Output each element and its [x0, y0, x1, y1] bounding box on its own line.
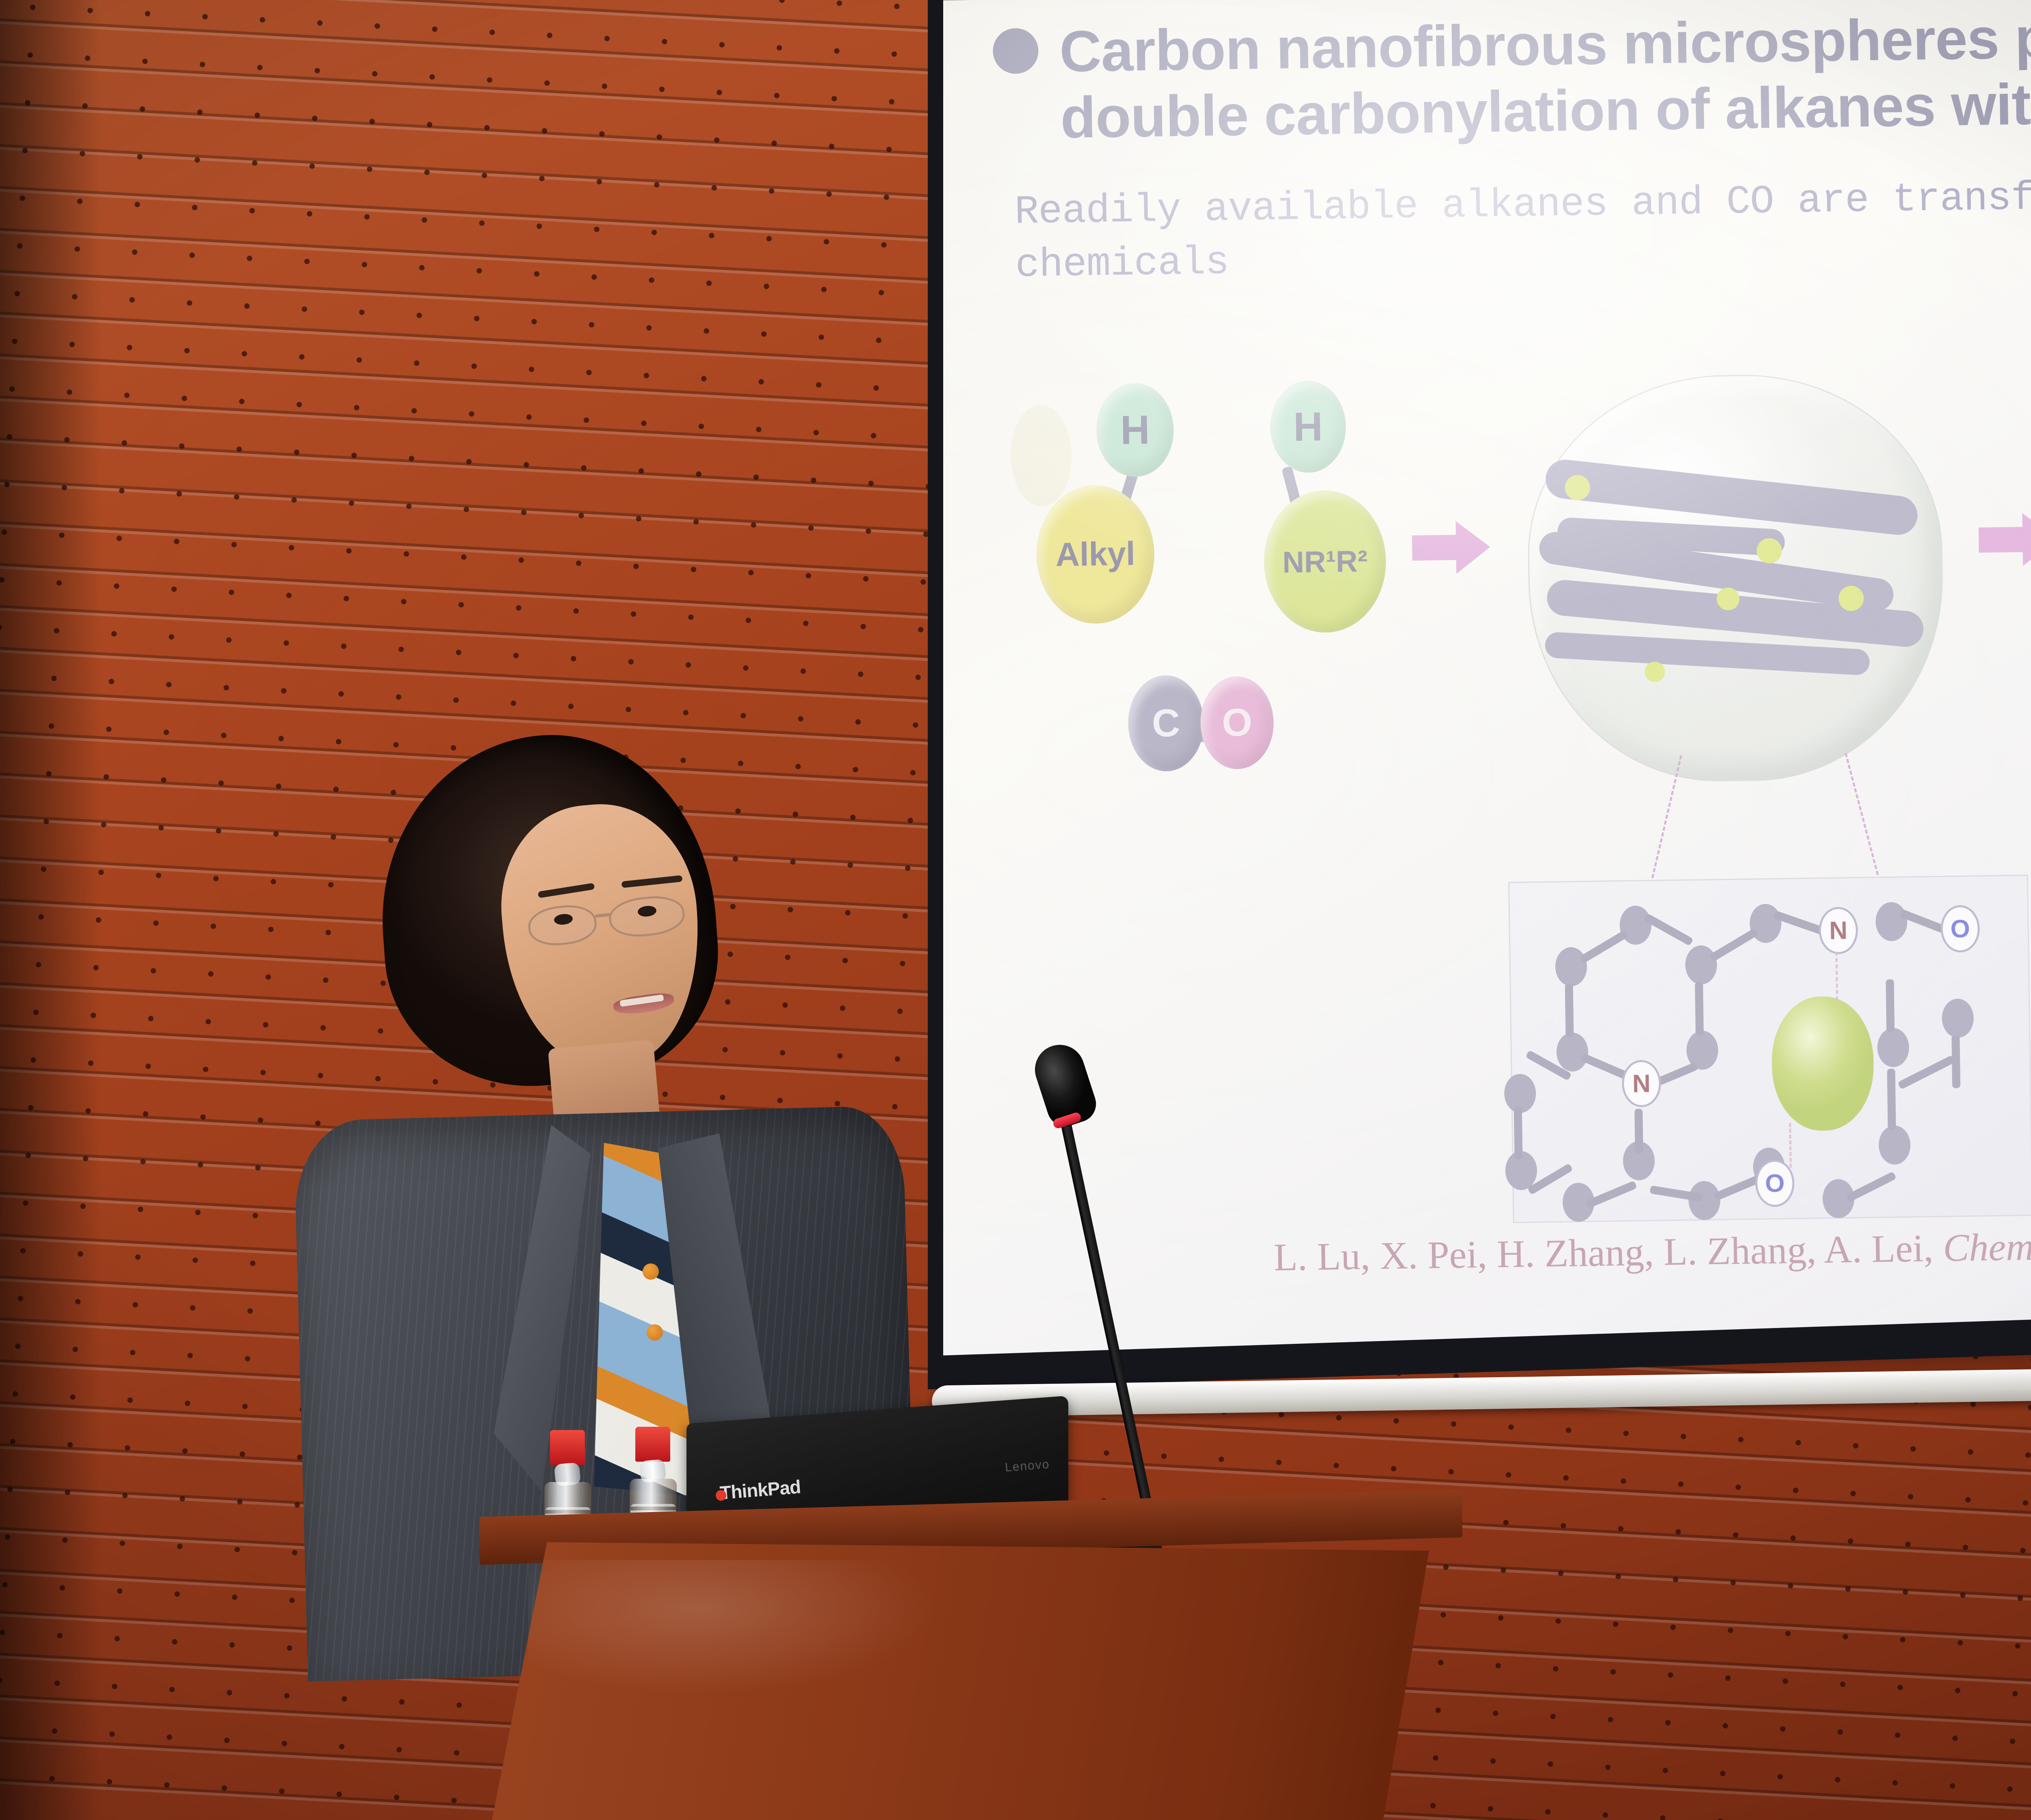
lectern — [479, 1503, 1462, 1820]
lectern-highlight — [528, 1560, 1097, 1804]
lecture-scene: Carbon nanofibrous microspheres promote … — [0, 0, 2031, 1820]
blouse-button-top — [643, 1263, 659, 1280]
blouse-button-bottom — [647, 1324, 663, 1341]
thinkpad-red-dot-icon — [716, 1490, 726, 1501]
lens-left — [526, 902, 598, 948]
bottle-cap-left — [550, 1430, 585, 1465]
bottle-cap-right — [635, 1427, 670, 1462]
